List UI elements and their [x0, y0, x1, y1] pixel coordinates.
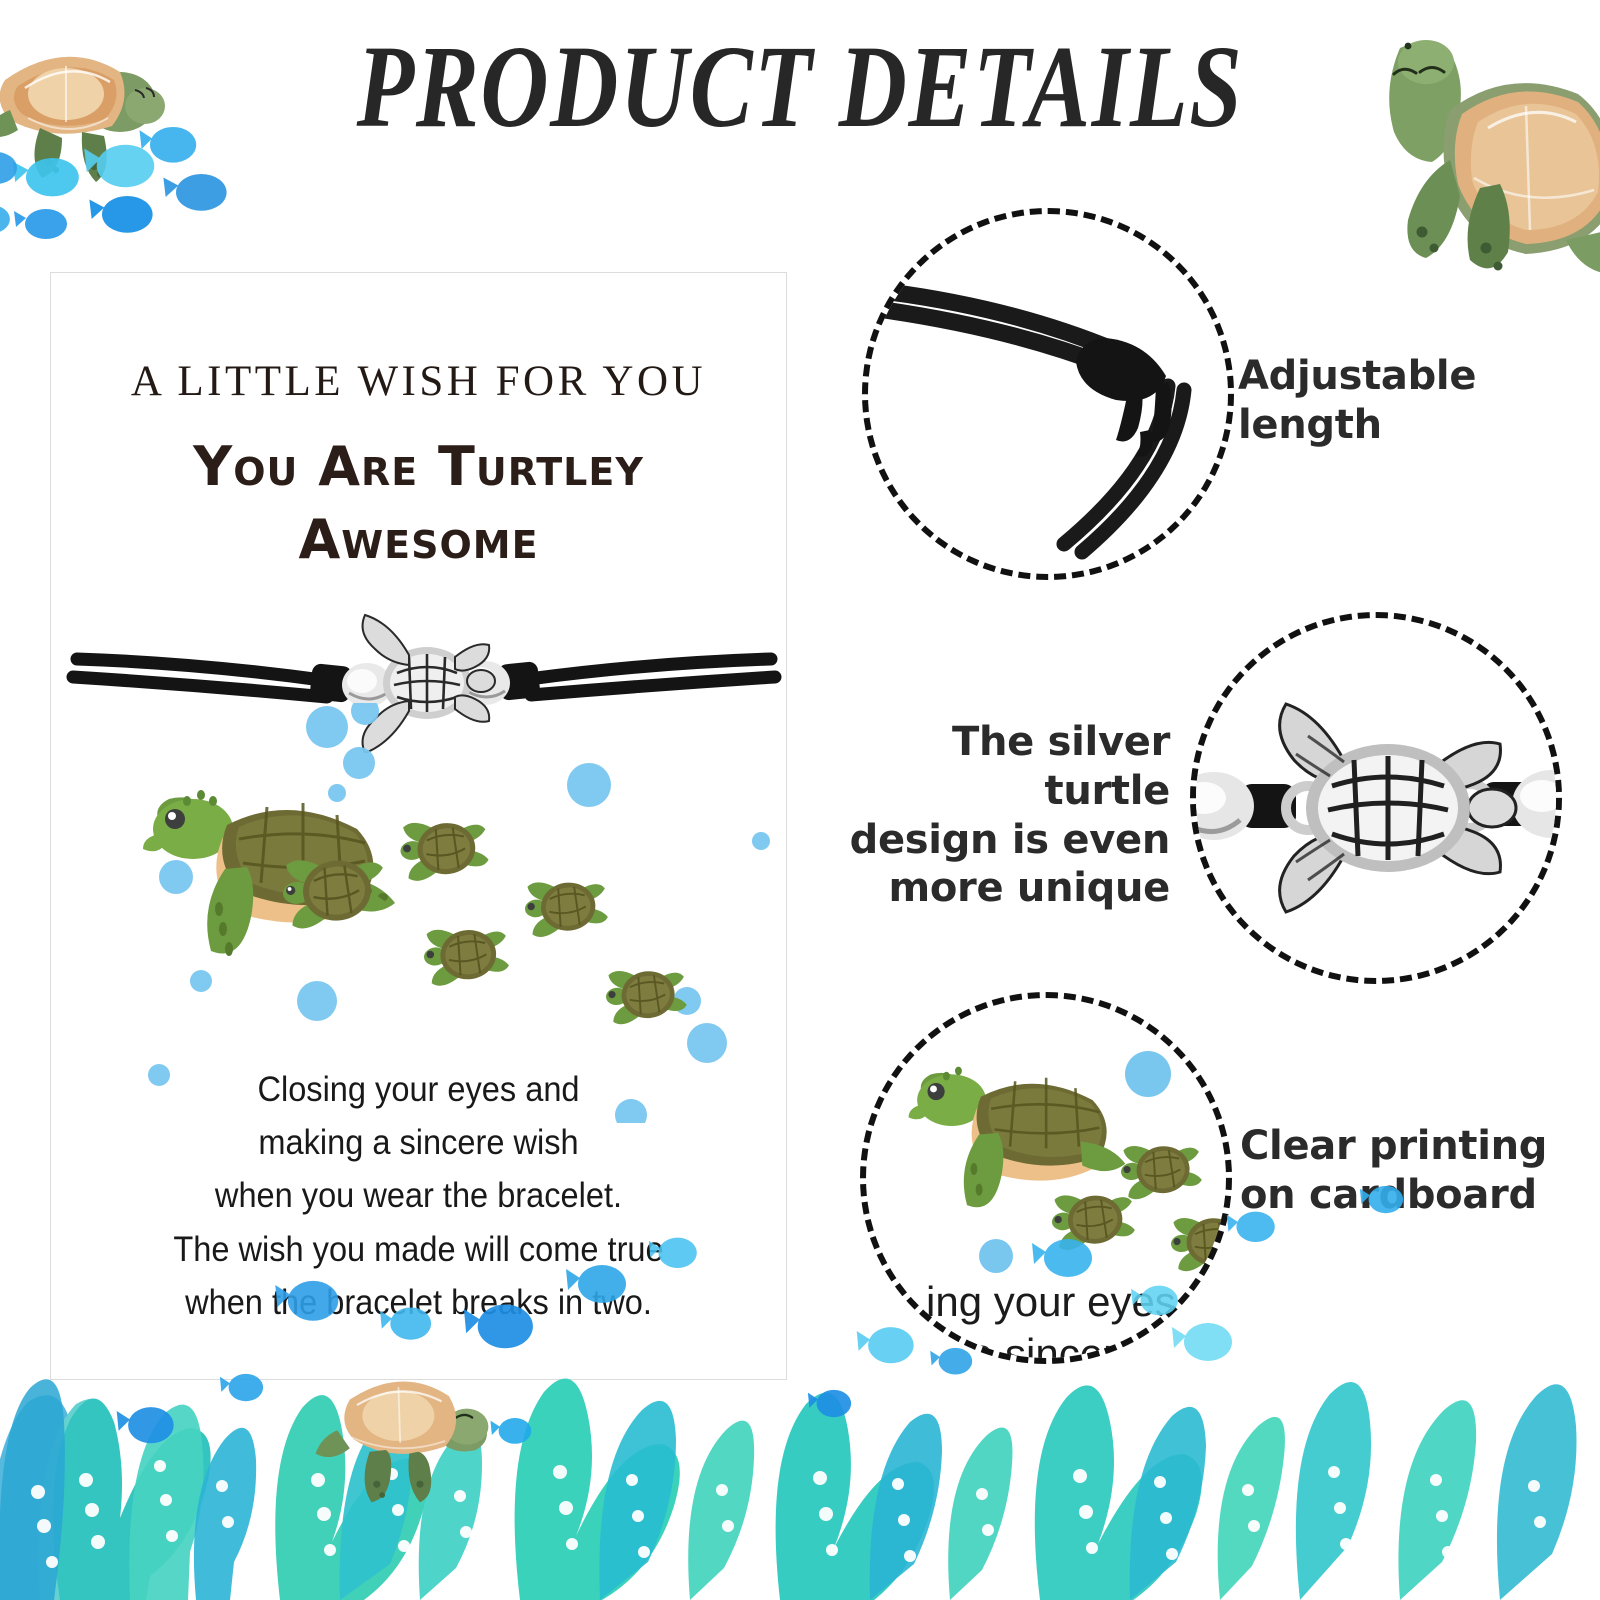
silver-turtle-charm-detail — [1196, 618, 1556, 978]
callout-label-line: The silver turtle — [820, 718, 1170, 816]
callout-label-line: length — [1238, 401, 1578, 450]
card-message-line: making a sincere wish — [97, 1116, 740, 1169]
coral-reef-bottom — [0, 1180, 1600, 1600]
callout-bubble-adjustable — [862, 208, 1234, 580]
callout-bubble-silver-turtle — [1190, 612, 1562, 984]
callout-label-line: Adjustable — [1238, 352, 1578, 401]
callout-label-adjustable: Adjustable length — [1238, 352, 1578, 450]
callout-label-line: design is even — [820, 816, 1170, 865]
turtle-family-illustration — [71, 703, 771, 1123]
card-headline: A LITTLE WISH FOR YOU — [51, 357, 786, 406]
adjustable-cord-detail — [868, 214, 1228, 574]
card-subheadline: You Are Turtley Awesome — [111, 431, 726, 577]
infographic-canvas: A LITTLE WISH FOR YOU You Are Turtley Aw… — [0, 0, 1600, 1600]
card-message-line: Closing your eyes and — [97, 1063, 740, 1116]
callout-bubble-silver-turtle-inner — [1196, 618, 1556, 978]
callout-label-line: more unique — [820, 864, 1170, 913]
callout-bubble-adjustable-inner — [868, 214, 1228, 574]
page-title: PRODUCT DETAILS — [160, 28, 1440, 146]
callout-label-silver-turtle: The silver turtle design is even more un… — [820, 718, 1170, 913]
callout-label-line: Clear printing — [1240, 1122, 1590, 1171]
